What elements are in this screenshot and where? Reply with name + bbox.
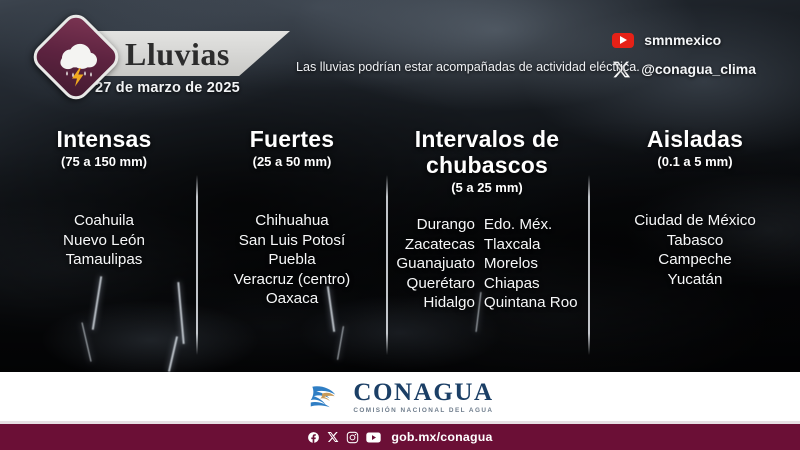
page-title: Lluvias xyxy=(125,32,275,76)
category-range: (5 a 25 mm) xyxy=(392,180,582,195)
logo-tagline: COMISIÓN NACIONAL DEL AGUA xyxy=(353,406,493,415)
category-heading: Fuertes xyxy=(202,126,382,152)
category-heading: Intervalos de chubascos xyxy=(392,126,582,178)
instagram-icon[interactable] xyxy=(346,431,359,444)
logo-text: CONAGUA COMISIÓN NACIONAL DEL AGUA xyxy=(353,380,493,415)
footer-url[interactable]: gob.mx/conagua xyxy=(391,430,492,444)
weather-infographic: Lluvias 27 de marzo de 2025 smnmexico xyxy=(0,0,800,450)
conagua-water-eagle-icon xyxy=(306,378,344,416)
category-heading: Intensas xyxy=(28,126,180,152)
lead-note: Las lluvias podrían estar acompañadas de… xyxy=(296,60,640,74)
category-state-list: CoahuilaNuevo LeónTamaulipas xyxy=(28,211,180,270)
footer-bar: gob.mx/conagua xyxy=(0,424,800,450)
rain-thunderstorm-icon xyxy=(42,23,110,91)
category-heading: Aisladas xyxy=(600,126,790,152)
category-state-list: Ciudad de MéxicoTabascoCampecheYucatán xyxy=(600,211,790,289)
social-row-youtube[interactable]: smnmexico xyxy=(612,30,756,50)
category-fuertes: Fuertes (25 a 50 mm) ChihuahuaSan Luis P… xyxy=(202,126,382,309)
category-intervalos-de-chubascos: Intervalos de chubascos (5 a 25 mm) Dura… xyxy=(392,126,582,313)
facebook-icon[interactable] xyxy=(307,431,320,444)
category-range: (0.1 a 5 mm) xyxy=(600,154,790,169)
youtube-handle: smnmexico xyxy=(644,32,721,48)
category-state-columns: DurangoZacatecasGuanajuatoQuerétaroHidal… xyxy=(392,215,582,313)
category-aisladas: Aisladas (0.1 a 5 mm) Ciudad de MéxicoTa… xyxy=(600,126,790,289)
category-state-list-right: Edo. Méx.TlaxcalaMorelosChiapasQuintana … xyxy=(484,215,578,313)
rainfall-categories: Intensas (75 a 150 mm) CoahuilaNuevo Leó… xyxy=(0,126,800,356)
category-range: (75 a 150 mm) xyxy=(28,154,180,169)
category-state-list-left: DurangoZacatecasGuanajuatoQuerétaroHidal… xyxy=(396,215,475,313)
forecast-date: 27 de marzo de 2025 xyxy=(95,80,240,96)
youtube-icon xyxy=(612,33,634,48)
category-range: (25 a 50 mm) xyxy=(202,154,382,169)
x-handle: @conagua_clima xyxy=(641,61,756,77)
category-state-list: ChihuahuaSan Luis PotosíPueblaVeracruz (… xyxy=(202,211,382,309)
logo-band: CONAGUA COMISIÓN NACIONAL DEL AGUA xyxy=(0,372,800,422)
youtube-icon[interactable] xyxy=(366,432,381,443)
logo-wordmark: CONAGUA xyxy=(353,380,493,406)
x-twitter-icon[interactable] xyxy=(327,431,339,443)
category-intensas: Intensas (75 a 150 mm) CoahuilaNuevo Leó… xyxy=(28,126,180,270)
